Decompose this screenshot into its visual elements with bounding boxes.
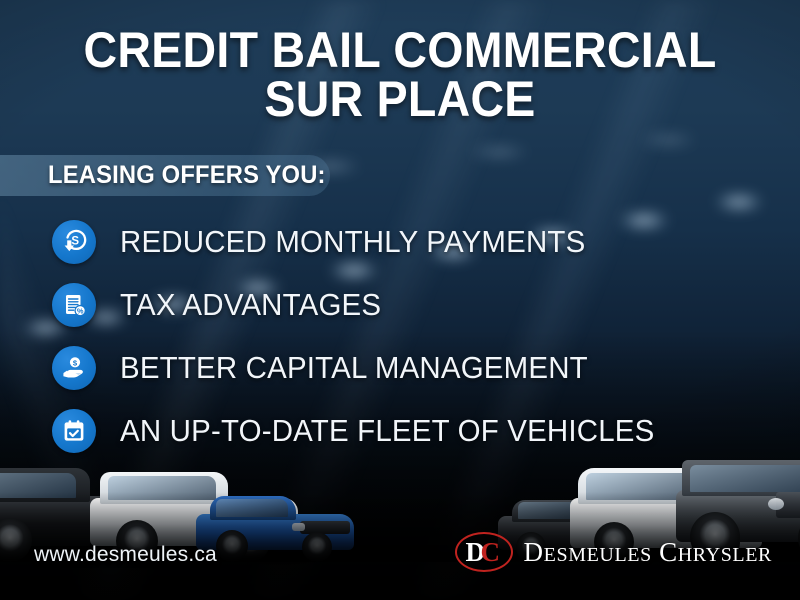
page-title: CREDIT BAIL COMMERCIAL SUR PLACE	[28, 26, 772, 124]
dealership-logo[interactable]: D C DESMEULES CHRYSLER	[455, 532, 772, 572]
logo-word-chrysler-rest: HRYSLER	[678, 544, 772, 566]
logo-word-desmeules-cap: D	[524, 537, 544, 567]
leasing-offers-banner: LEASING OFFERS YOU:	[0, 155, 330, 196]
svg-text:%: %	[77, 306, 84, 315]
benefit-item: S REDUCED MONTHLY PAYMENTS	[52, 210, 752, 273]
benefit-label: BETTER CAPITAL MANAGEMENT	[120, 350, 588, 386]
dc-monogram-icon: D C	[455, 532, 513, 572]
headline-line-2: SUR PLACE	[28, 75, 772, 124]
website-url[interactable]: www.desmeules.ca	[34, 543, 217, 567]
logo-letter-c: C	[481, 532, 501, 572]
benefit-item: $ BETTER CAPITAL MANAGEMENT	[52, 336, 752, 399]
leasing-offers-label: LEASING OFFERS YOU:	[48, 161, 326, 190]
logo-word-chrysler-cap: C	[659, 537, 678, 567]
benefit-label: TAX ADVANTAGES	[120, 287, 381, 323]
document-percent-icon: %	[52, 283, 96, 327]
logo-word-desmeules-rest: ESMEULES	[544, 544, 652, 566]
headline-line-1: CREDIT BAIL COMMERCIAL	[83, 22, 716, 78]
benefit-item: % TAX ADVANTAGES	[52, 273, 752, 336]
benefit-label: REDUCED MONTHLY PAYMENTS	[120, 224, 585, 260]
promotional-banner: CREDIT BAIL COMMERCIAL SUR PLACE LEASING…	[0, 0, 800, 600]
money-down-arrow-icon: S	[52, 220, 96, 264]
hand-coin-icon: $	[52, 346, 96, 390]
logo-wordmark: DESMEULES CHRYSLER	[524, 537, 772, 568]
